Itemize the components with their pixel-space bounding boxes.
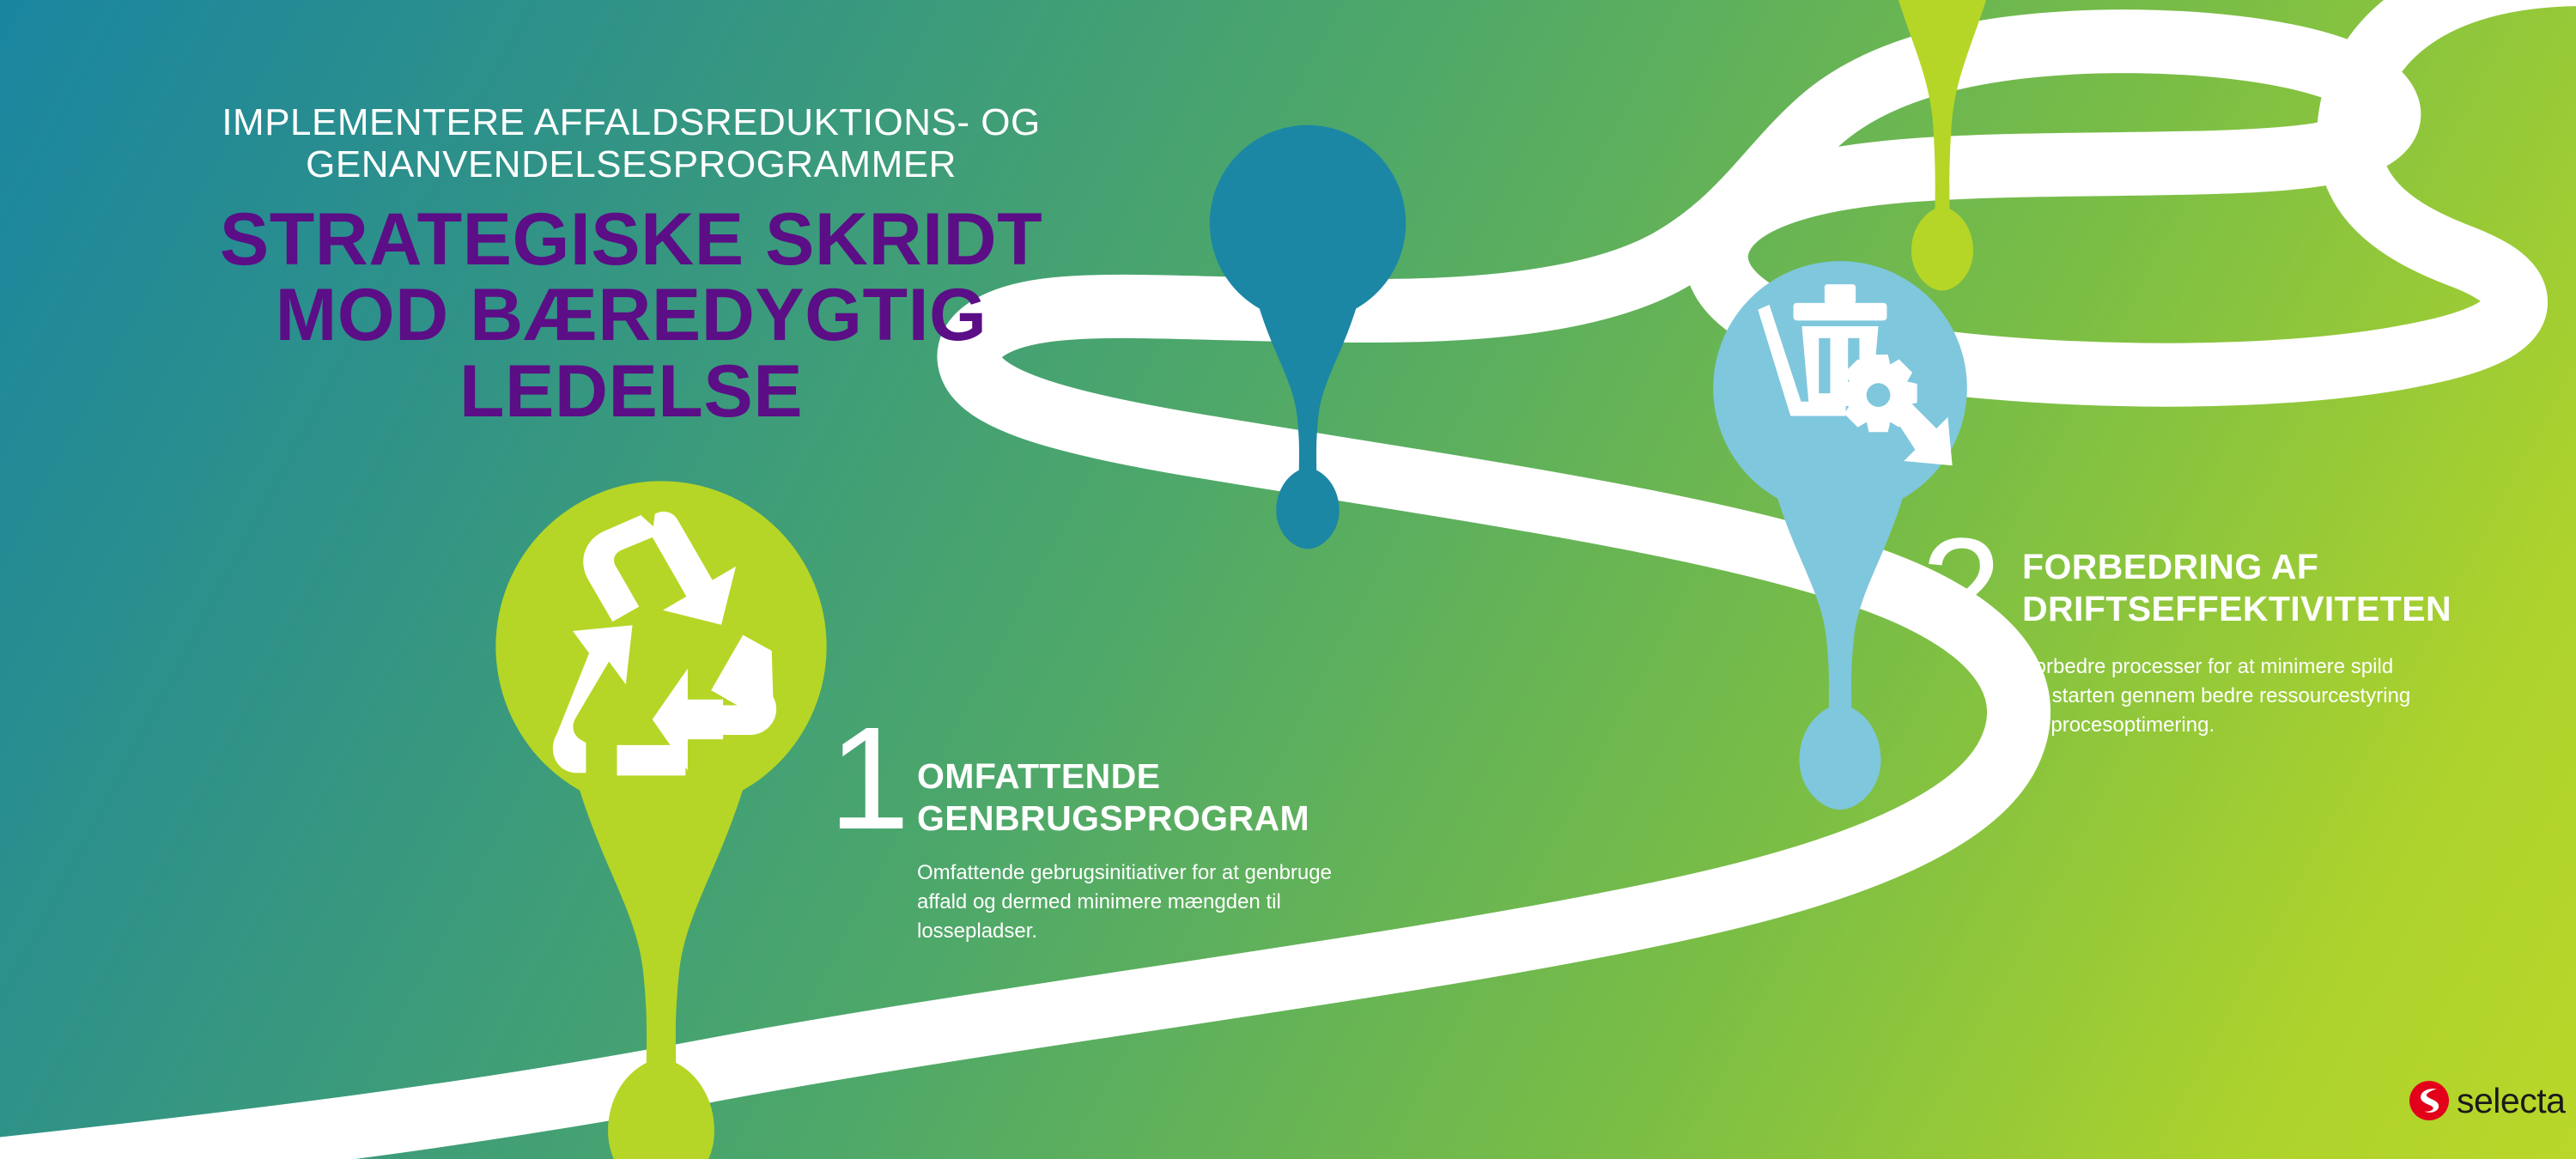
bin-lid-handle: [1825, 284, 1856, 304]
down-right-arrow: [1886, 392, 1952, 465]
step-1-title: OMFATTENDE GENBRUGSPROGRAM: [917, 755, 1467, 840]
infographic-canvas: IMPLEMENTERE AFFALDSREDUKTIONS- OG GENAN…: [0, 0, 2576, 1159]
step-1-number: 1: [829, 719, 910, 839]
selecta-logo: selecta: [2409, 1077, 2555, 1127]
selecta-logo-mark: [2409, 1080, 2450, 1121]
step-2-number: 2: [1921, 531, 2002, 650]
step-2-body: Forbedre processer for at minimere spild…: [2022, 652, 2503, 740]
selecta-wordmark: selecta: [2457, 1081, 2565, 1120]
step-1-body: Omfattende gebrugsinitiativer for at gen…: [917, 859, 1432, 946]
step-2-title: FORBEDRING AF DRIFTSEFFEKTIVITETEN: [2022, 546, 2537, 630]
bin-lid: [1794, 303, 1887, 320]
